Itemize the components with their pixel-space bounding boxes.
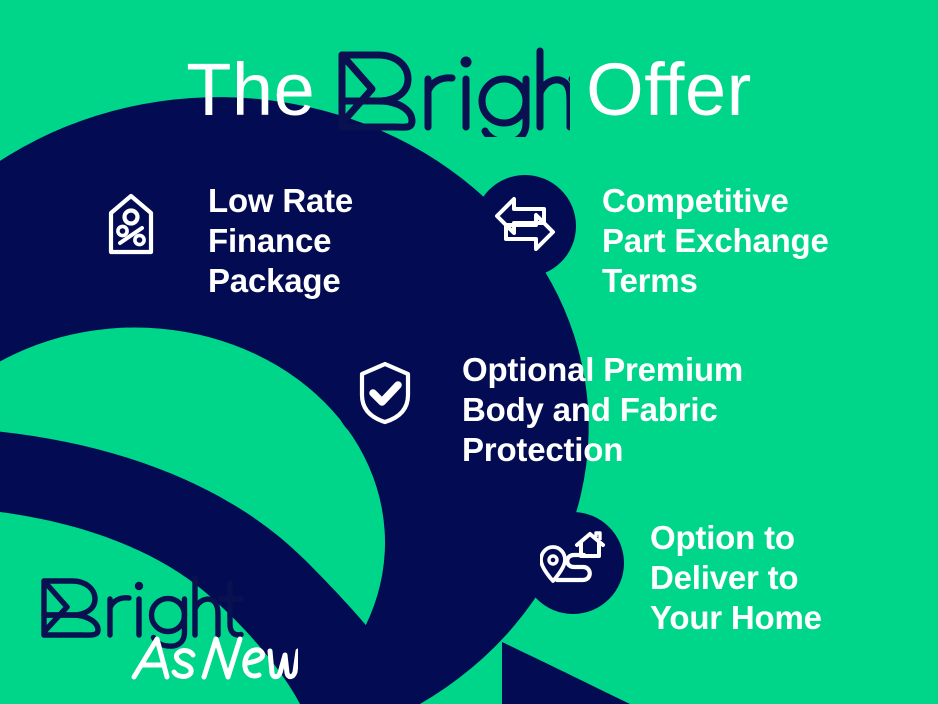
feature-label: Optional Premium Body and Fabric Protect… [462,344,743,470]
feature-label: Low Rate Finance Package [208,175,353,301]
exchange-arrows-icon [494,195,556,258]
shield-check-icon [357,361,413,430]
feature-label: Competitive Part Exchange Terms [602,175,829,301]
feature-part-exchange: Competitive Part Exchange Terms [474,175,829,301]
bright-wordmark-logo [332,45,570,141]
price-tag-percent-icon [103,193,159,260]
feature-icon-badge [334,344,436,446]
feature-low-rate-finance: Low Rate Finance Package [80,175,353,301]
offer-poster: The [0,0,938,704]
feature-icon-badge [522,512,624,614]
feature-icon-badge [474,175,576,277]
delivery-route-home-icon [540,531,606,596]
brand-logo-lockup [38,573,298,678]
feature-body-fabric-protection: Optional Premium Body and Fabric Protect… [334,344,743,470]
feature-home-delivery: Option to Deliver to Your Home [522,512,822,638]
feature-label: Option to Deliver to Your Home [650,512,822,638]
feature-icon-badge [80,175,182,277]
title-prefix: The [186,53,315,127]
page-title: The [0,42,938,138]
navy-wedge-shape [502,642,630,704]
title-suffix: Offer [586,53,752,127]
